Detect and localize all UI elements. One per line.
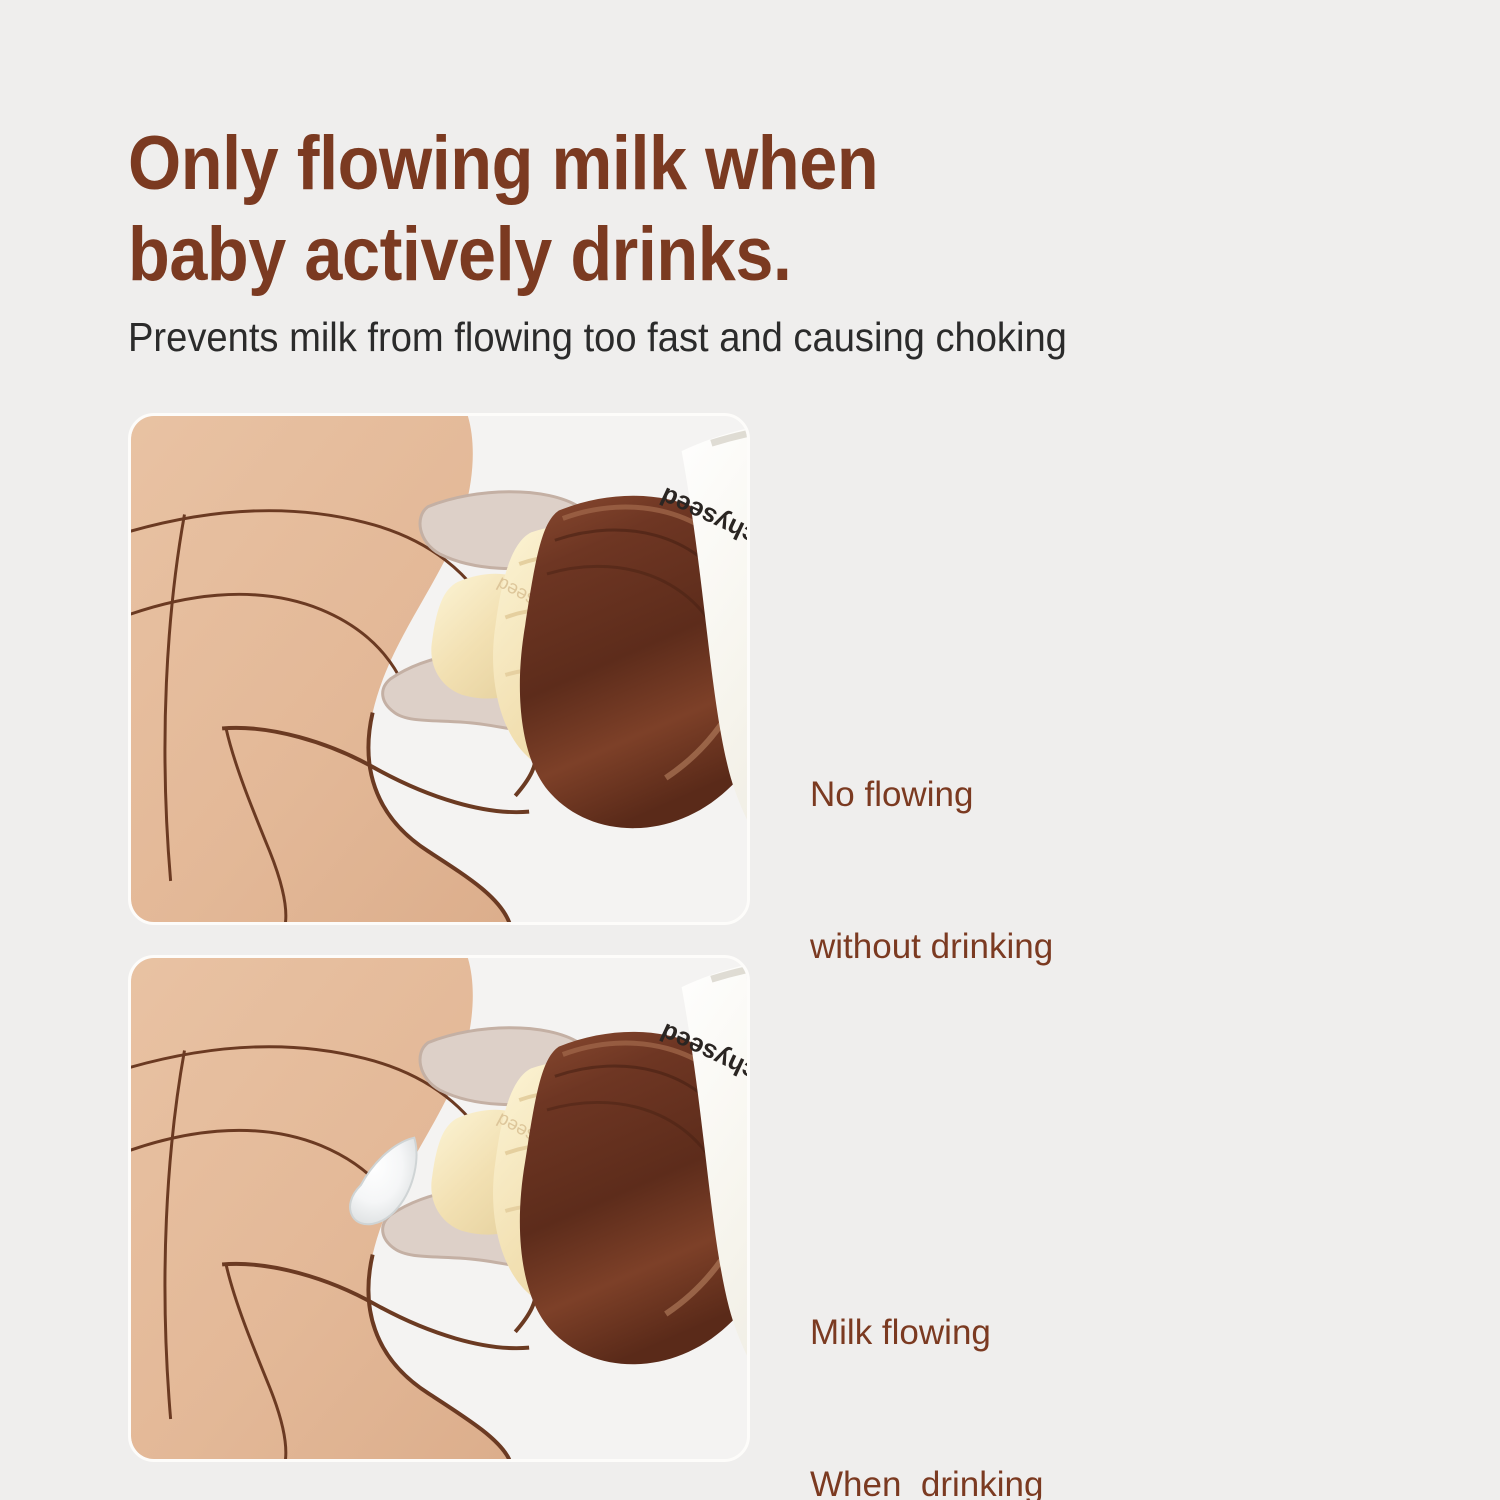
illustration-panel-no-flow: chyseed chyseed (128, 413, 750, 925)
caption-no-flow-line-2: without drinking (810, 922, 1053, 973)
headline-line-2: baby actively drinks. (128, 209, 1118, 300)
caption-flowing-line-1: Milk flowing (810, 1308, 1043, 1359)
page-subheadline: Prevents milk from flowing too fast and … (128, 312, 1318, 363)
illustration-panel-flowing: chyseed chyseed (128, 955, 750, 1462)
cross-section-illustration-no-flow: chyseed chyseed (131, 416, 747, 922)
caption-no-flow-line-1: No flowing (810, 770, 1053, 821)
caption-flowing-line-2: When drinking (810, 1460, 1043, 1500)
product-infographic: Only flowing milk when baby actively dri… (0, 0, 1500, 1500)
caption-no-flow: No flowing without drinking (810, 668, 1053, 1074)
cross-section-illustration-flowing: chyseed chyseed (131, 958, 747, 1459)
page-headline: Only flowing milk when baby actively dri… (128, 118, 1118, 300)
caption-flowing: Milk flowing When drinking (810, 1206, 1043, 1500)
headline-line-1: Only flowing milk when (128, 118, 1118, 209)
